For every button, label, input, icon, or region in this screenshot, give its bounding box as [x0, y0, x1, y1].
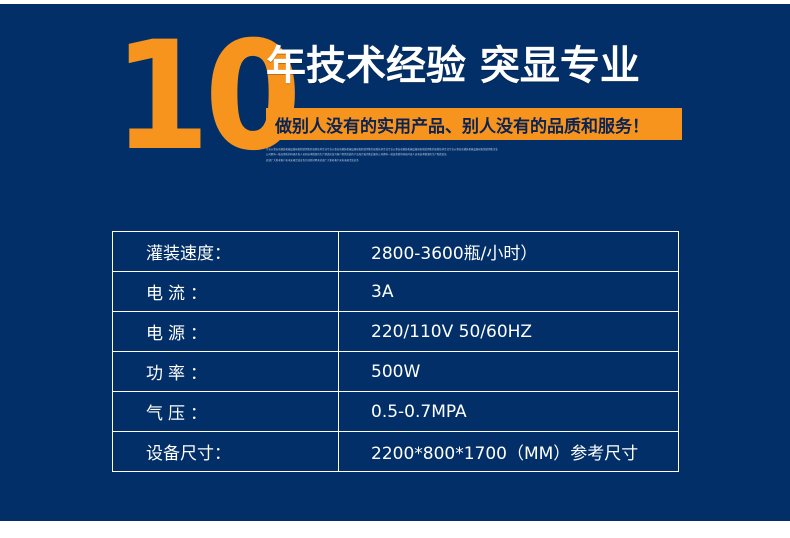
- table-row: 设备尺寸： 2200*800*1700（MM）参考尺寸: [113, 432, 679, 472]
- spec-label: 电流：: [113, 272, 339, 312]
- table-row: 电流： 3A: [113, 272, 679, 312]
- spec-label: 电源：: [113, 312, 339, 352]
- orange-subbanner: 做别人没有的实用产品、别人没有的品质和服务！: [266, 108, 682, 140]
- spec-value: 2200*800*1700（MM）参考尺寸: [339, 432, 679, 472]
- hero-section: 10 年技术经验 突显专业 做别人没有的实用产品、别人没有的品质和服务！ 专业从…: [0, 4, 790, 184]
- microtext-block: 专业从事自动灌装机械设备研发制造销售的高新技术企业专业从事自动灌装机械设备研发制…: [266, 147, 684, 163]
- navy-panel: 10 年技术经验 突显专业 做别人没有的实用产品、别人没有的品质和服务！ 专业从…: [0, 4, 790, 521]
- product-spec-banner: 10 年技术经验 突显专业 做别人没有的实用产品、别人没有的品质和服务！ 专业从…: [0, 0, 790, 538]
- headline-text: 年技术经验 突显专业: [266, 40, 640, 92]
- table-row: 功率： 500W: [113, 352, 679, 392]
- table-row: 灌装速度： 2800-3600瓶/小时）: [113, 232, 679, 272]
- spec-label: 功率：: [113, 352, 339, 392]
- spec-value: 3A: [339, 272, 679, 312]
- spec-label: 灌装速度：: [113, 232, 339, 272]
- spec-label: 设备尺寸：: [113, 432, 339, 472]
- table-row: 电源： 220/110V 50/60HZ: [113, 312, 679, 352]
- spec-label: 气压：: [113, 392, 339, 432]
- spec-value: 500W: [339, 352, 679, 392]
- spec-value: 220/110V 50/60HZ: [339, 312, 679, 352]
- microtext-line: 欢迎广大新老客户来电来函洽谈业务共创美好明天欢迎广大新老客户来电来函洽谈业务: [266, 158, 404, 163]
- spec-value: 2800-3600瓶/小时）: [339, 232, 679, 272]
- spec-value: 0.5-0.7MPA: [339, 392, 679, 432]
- subbanner-text: 做别人没有的实用产品、别人没有的品质和服务！: [266, 112, 649, 137]
- table-row: 气压： 0.5-0.7MPA: [113, 392, 679, 432]
- specification-table: 灌装速度： 2800-3600瓶/小时） 电流： 3A 电源： 220/110V…: [112, 231, 679, 472]
